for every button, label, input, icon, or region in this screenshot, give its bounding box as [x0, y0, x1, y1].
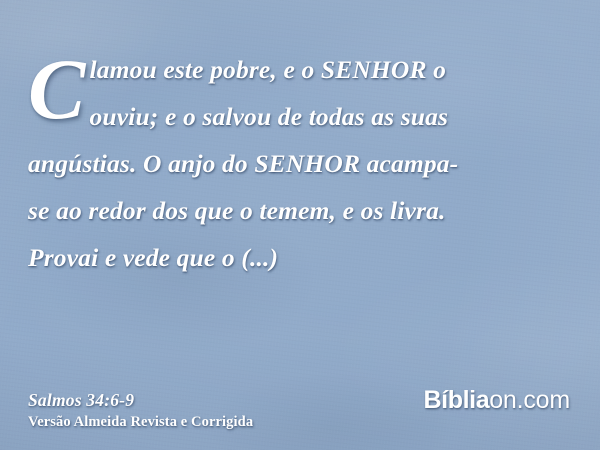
- verse-line-2: ouviu; e o salvou de todas as suas: [28, 93, 576, 140]
- bible-version-label: Versão Almeida Revista e Corrigida: [28, 412, 253, 432]
- verse-line-1: lamou este pobre, e o SENHOR o: [28, 46, 576, 93]
- verse-image-card: C lamou este pobre, e o SENHOR o ouviu; …: [0, 0, 600, 450]
- reference-block: Salmos 34:6-9 Versão Almeida Revista e C…: [28, 389, 253, 432]
- card-footer: Salmos 34:6-9 Versão Almeida Revista e C…: [0, 370, 600, 450]
- verse-line-3: angústias. O anjo do SENHOR acampa-: [28, 140, 576, 187]
- verse-line-4: se ao redor dos que o temem, e os livra.: [28, 187, 576, 234]
- card-content: C lamou este pobre, e o SENHOR o ouviu; …: [0, 0, 600, 450]
- verse-line-5: Provai e vede que o (...): [28, 234, 576, 281]
- bibliaon-logo: Bíbliaon.com: [424, 387, 570, 414]
- verse-text-block: C lamou este pobre, e o SENHOR o ouviu; …: [28, 46, 576, 281]
- verse-reference: Salmos 34:6-9: [28, 389, 253, 411]
- verse-drop-cap: C: [28, 48, 90, 125]
- logo-domain-text: on.com: [489, 386, 570, 414]
- logo-brand-text: Bíblia: [424, 386, 490, 414]
